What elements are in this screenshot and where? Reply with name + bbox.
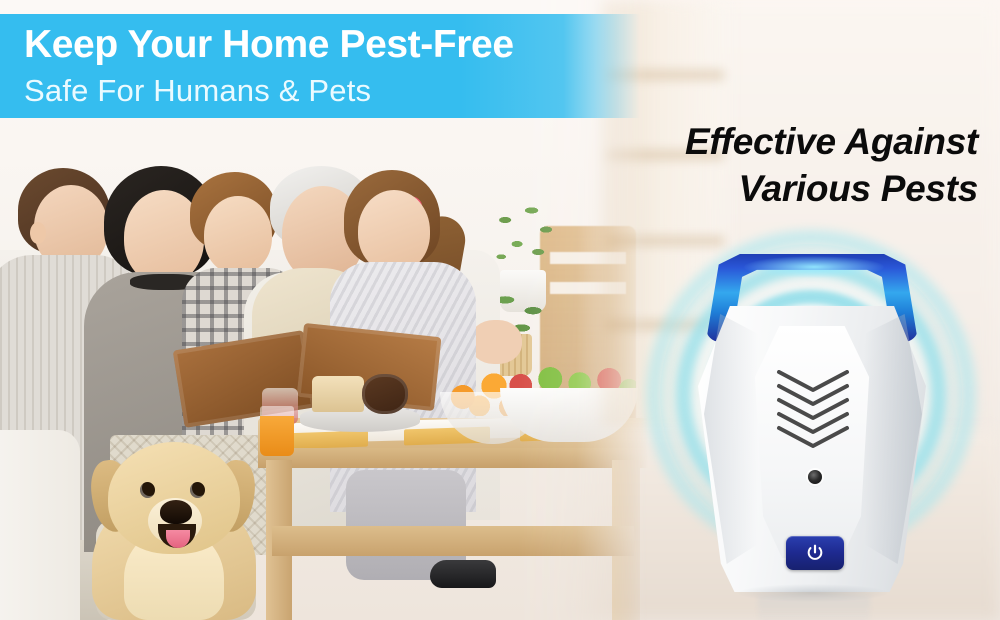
face bbox=[358, 190, 430, 272]
golden-retriever-puppy bbox=[66, 432, 282, 620]
ear bbox=[30, 222, 46, 244]
ultrasonic-pest-repeller-device bbox=[698, 248, 926, 592]
device-right-facet bbox=[864, 314, 922, 564]
face bbox=[204, 196, 272, 274]
slipper bbox=[430, 560, 496, 588]
product-showcase bbox=[620, 222, 1000, 620]
potted-plant-upper bbox=[492, 196, 558, 276]
chevron-vent-grille bbox=[776, 370, 850, 446]
orange-juice-glass bbox=[260, 406, 294, 456]
device-reflection bbox=[758, 596, 870, 620]
table-lower-shelf bbox=[272, 526, 634, 556]
banner-headline: Keep Your Home Pest-Free bbox=[24, 20, 640, 70]
placemat bbox=[282, 430, 368, 449]
headline-line-1: Effective Against bbox=[578, 118, 978, 165]
chevron-icon bbox=[776, 370, 850, 448]
headline-line-2: Various Pests bbox=[578, 165, 978, 212]
dog-eye-right bbox=[190, 482, 205, 498]
dog-eye-left bbox=[140, 482, 155, 498]
power-button[interactable] bbox=[786, 536, 844, 570]
promo-banner: Keep Your Home Pest-Free Safe For Humans… bbox=[0, 14, 640, 118]
dog-nose bbox=[160, 500, 192, 524]
device-glow-highlight bbox=[744, 256, 884, 278]
chocolate-donut bbox=[362, 374, 408, 414]
effective-against-headline: Effective Against Various Pests bbox=[578, 118, 978, 212]
power-icon bbox=[805, 543, 825, 563]
led-indicator bbox=[808, 470, 822, 484]
banner-subheadline: Safe For Humans & Pets bbox=[24, 70, 640, 112]
coffee-table-edge bbox=[258, 448, 648, 468]
cake-slice bbox=[312, 376, 364, 412]
product-banner-image: Keep Your Home Pest-Free Safe For Humans… bbox=[0, 0, 1000, 620]
